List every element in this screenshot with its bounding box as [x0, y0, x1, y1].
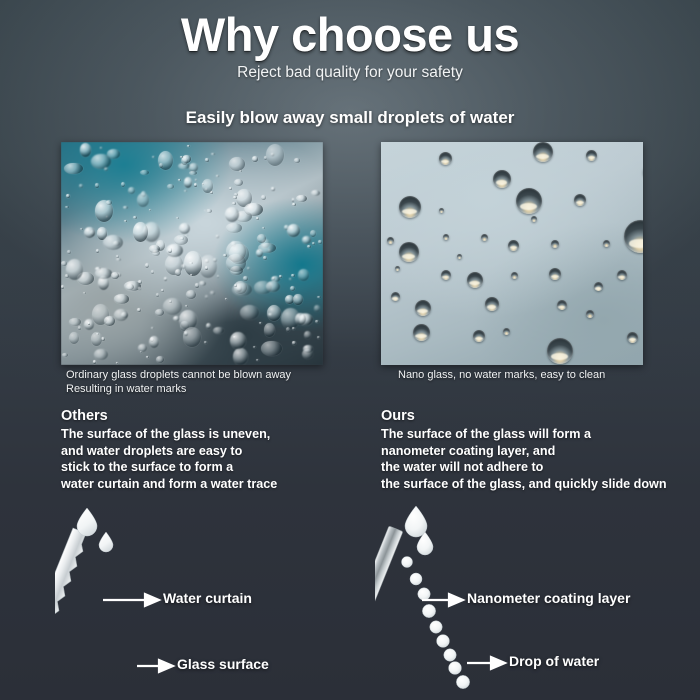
water-droplet — [66, 259, 83, 280]
water-droplet — [287, 224, 300, 237]
water-droplet — [586, 310, 594, 318]
water-droplet — [395, 266, 400, 271]
water-droplet — [65, 206, 68, 208]
water-droplet — [163, 298, 182, 315]
leader-line-drop-of-water — [467, 657, 505, 669]
water-droplet — [64, 163, 82, 174]
water-droplet — [516, 188, 542, 214]
water-droplet — [206, 323, 211, 329]
water-droplet-large — [77, 508, 97, 536]
water-droplet — [413, 324, 430, 341]
annotation-nanometer-coating-layer: Nanometer coating layer — [467, 590, 630, 606]
water-droplet — [439, 152, 452, 165]
water-droplet — [114, 309, 128, 321]
water-droplet — [91, 154, 111, 169]
water-droplet — [91, 332, 102, 346]
water-droplet — [271, 187, 274, 191]
ordinary-glass-caption: Ordinary glass droplets cannot be blown … — [66, 369, 291, 396]
water-droplet — [574, 194, 586, 206]
water-droplet — [399, 242, 419, 262]
water-droplet — [263, 256, 267, 260]
leader-line-glass-surface — [137, 660, 173, 672]
water-droplet — [152, 156, 155, 158]
water-droplet — [66, 194, 70, 198]
water-droplet — [229, 157, 245, 171]
water-droplet — [627, 332, 638, 343]
water-droplet — [264, 323, 275, 337]
water-droplet — [441, 270, 451, 280]
water-droplet — [467, 272, 483, 288]
water-droplet — [226, 223, 242, 232]
water-droplet — [230, 332, 246, 349]
water-droplet — [69, 332, 80, 344]
water-droplet — [195, 283, 199, 287]
water-droplet — [168, 248, 172, 253]
water-droplet — [181, 157, 188, 165]
water-droplet — [272, 277, 275, 280]
water-droplet — [294, 158, 301, 163]
water-droplet — [116, 258, 121, 261]
water-droplet — [481, 234, 488, 241]
water-droplet — [217, 275, 220, 278]
water-droplet — [387, 237, 394, 244]
water-droplet — [156, 356, 164, 363]
water-droplet — [161, 289, 164, 293]
water-droplet — [133, 222, 148, 242]
annotation-glass-surface: Glass surface — [177, 656, 269, 672]
water-droplet — [531, 216, 537, 222]
water-droplet — [292, 341, 297, 345]
water-droplet — [174, 235, 187, 245]
water-droplet — [594, 282, 603, 291]
water-droplet — [547, 338, 573, 364]
water-droplet — [184, 251, 203, 276]
water-droplet — [493, 170, 511, 188]
nano-coating-diagram: Nanometer coating layer Drop of water — [375, 500, 700, 700]
water-droplet — [223, 254, 226, 257]
ordinary-glass-photo — [61, 142, 323, 365]
water-droplet — [95, 268, 112, 278]
water-droplet — [84, 227, 95, 238]
water-droplet — [121, 182, 125, 187]
water-droplet — [225, 207, 239, 222]
water-droplet — [104, 316, 115, 326]
annotation-drop-of-water: Drop of water — [509, 653, 599, 669]
water-droplet — [78, 326, 82, 330]
water-droplet — [311, 190, 320, 196]
water-droplet — [233, 348, 247, 365]
water-droplet — [205, 188, 208, 191]
water-droplet — [204, 341, 207, 343]
ours-description: The surface of the glass will form a nan… — [381, 426, 667, 492]
section-tagline: Easily blow away small droplets of water — [0, 108, 700, 128]
water-droplet-large — [405, 506, 427, 537]
water-droplet — [234, 179, 243, 186]
nano-coated-glass-bar — [375, 526, 403, 687]
water-droplet — [391, 292, 400, 301]
water-droplet — [226, 254, 246, 272]
water-droplet — [216, 235, 219, 238]
water-droplet — [114, 294, 129, 304]
water-droplet — [124, 220, 127, 222]
water-droplet — [296, 195, 307, 203]
water-droplet — [244, 203, 263, 216]
water-droplet — [194, 183, 197, 187]
nano-glass-photo — [381, 142, 643, 365]
water-droplet — [261, 341, 281, 356]
water-droplet — [149, 336, 159, 348]
others-description: The surface of the glass is uneven, and … — [61, 426, 277, 492]
water-droplet — [292, 203, 296, 206]
page-subtitle: Reject bad quality for your safety — [0, 64, 700, 82]
water-droplet — [186, 290, 196, 299]
water-droplet — [106, 200, 112, 205]
water-droplet — [103, 235, 123, 250]
water-droplet — [533, 142, 553, 162]
water-droplet — [95, 183, 100, 188]
water-droplet — [155, 309, 165, 316]
water-droplet — [184, 331, 188, 336]
water-droplet-small — [99, 532, 113, 552]
water-droplet — [261, 195, 266, 201]
water-droplet — [617, 270, 627, 280]
water-droplet — [293, 294, 303, 306]
water-droplet — [295, 313, 306, 326]
water-droplet — [184, 190, 187, 192]
annotation-water-curtain: Water curtain — [163, 590, 252, 606]
water-droplet — [549, 268, 561, 280]
water-droplet — [137, 308, 141, 312]
uneven-glass-diagram: Water curtain Glass surface — [55, 500, 375, 700]
water-droplet — [485, 297, 499, 311]
water-droplet — [603, 240, 610, 247]
water-droplet — [252, 156, 259, 162]
nano-glass-caption: Nano glass, no water marks, easy to clea… — [398, 369, 605, 383]
water-droplet — [213, 327, 224, 335]
water-droplet — [94, 349, 107, 360]
water-droplet — [211, 153, 215, 155]
water-droplet — [167, 184, 174, 189]
water-droplet — [511, 272, 518, 279]
water-bead-chain — [402, 557, 470, 689]
water-droplet — [128, 187, 135, 194]
water-droplet — [96, 249, 99, 253]
water-droplet — [415, 300, 431, 316]
water-droplet — [314, 305, 320, 312]
water-droplet — [551, 240, 559, 248]
water-droplet — [307, 245, 311, 248]
water-droplet — [443, 234, 449, 240]
water-droplet — [399, 196, 421, 218]
water-droplet — [253, 346, 256, 348]
water-droplet — [318, 240, 322, 244]
others-heading: Others — [61, 408, 108, 424]
water-droplet — [205, 266, 208, 270]
water-droplet — [508, 240, 519, 251]
water-droplet — [303, 345, 313, 353]
water-droplet — [210, 291, 215, 295]
why-choose-us-infographic: Why choose us Reject bad quality for you… — [0, 0, 700, 700]
water-droplet — [557, 300, 567, 310]
page-title: Why choose us — [0, 10, 700, 59]
water-droplet — [586, 150, 597, 161]
leader-line-water-curtain — [103, 594, 159, 606]
water-droplet — [266, 144, 284, 166]
water-droplet — [473, 330, 485, 342]
ours-heading: Ours — [381, 408, 415, 424]
water-droplet — [271, 153, 274, 156]
water-droplet — [202, 179, 213, 193]
uneven-glass-bar — [55, 528, 90, 683]
water-droplet — [205, 158, 209, 161]
water-droplet — [69, 318, 81, 326]
water-droplet — [67, 250, 71, 254]
water-droplet — [503, 328, 510, 335]
water-droplet — [178, 179, 181, 181]
water-droplet — [262, 227, 265, 229]
water-droplet — [457, 254, 462, 259]
water-droplet — [232, 202, 235, 205]
water-droplet — [243, 276, 248, 281]
water-droplet — [439, 208, 444, 213]
water-droplet — [138, 287, 141, 289]
water-droplet — [266, 281, 280, 293]
